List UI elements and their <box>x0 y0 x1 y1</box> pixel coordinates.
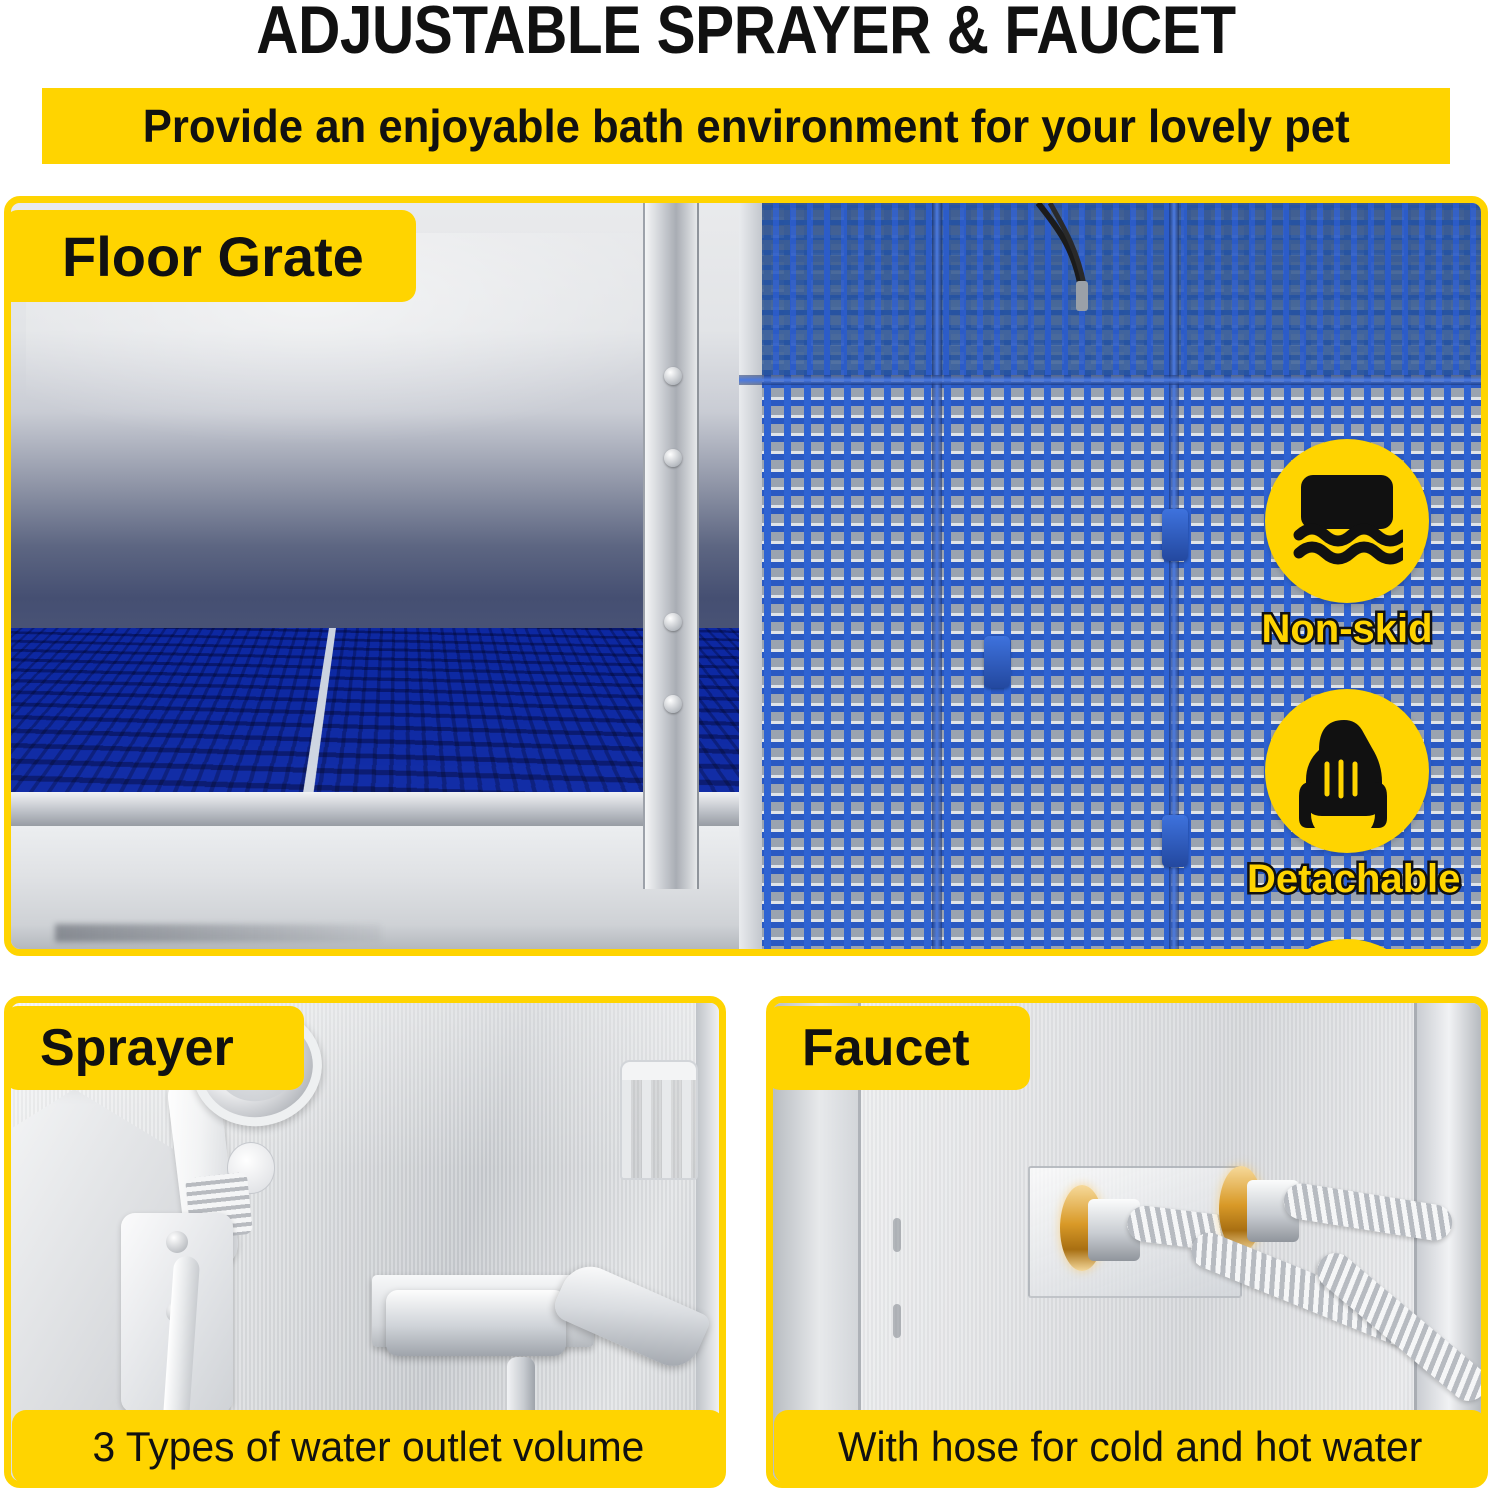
floor-grate-photo: Non-skid Detachable <box>11 203 1481 949</box>
wall-rack <box>620 1060 698 1180</box>
faucet-caption-text: With hose for cold and hot water <box>838 1423 1422 1471</box>
feature-non-skid: Non-skid <box>1247 439 1447 652</box>
floor-grate-badge-label: Floor Grate <box>62 224 364 289</box>
grate-left-edge <box>739 203 763 949</box>
wall-slot-mark <box>893 1218 901 1252</box>
grate-seam-horizontal <box>739 375 1481 385</box>
no-soak-icon <box>1265 939 1429 949</box>
non-skid-glyph <box>1291 469 1403 573</box>
floor-grate-panel: Non-skid Detachable <box>4 196 1488 956</box>
faucet-badge: Faucet <box>766 1006 1030 1090</box>
hand-grip-icon <box>1265 689 1429 853</box>
tub-front-panel <box>11 826 750 949</box>
stainless-tub-image <box>11 203 750 949</box>
feature-no-soak: No Soak <box>1247 939 1447 949</box>
grate-connector-clip <box>984 636 1010 688</box>
hand-grip-glyph <box>1289 712 1405 830</box>
floor-grate-badge: Floor Grate <box>4 210 416 302</box>
grate-back-row <box>739 203 1481 375</box>
non-skid-surface-icon <box>1265 439 1429 603</box>
sprayer-caption: 3 Types of water outlet volume <box>12 1410 724 1484</box>
sprayer-badge: Sprayer <box>4 1006 304 1090</box>
screw-icon <box>166 1231 188 1253</box>
mixer-valve-body <box>386 1290 566 1356</box>
tub-door-edge <box>643 203 699 889</box>
sprayer-badge-label: Sprayer <box>40 1018 234 1078</box>
sprayer-caption-text: 3 Types of water outlet volume <box>92 1423 644 1471</box>
feature-detachable: Detachable <box>1247 689 1447 902</box>
wall-slot-mark <box>893 1304 901 1338</box>
grate-seam-vertical <box>932 203 942 949</box>
grate-connector-clip <box>1162 815 1188 867</box>
page-title: ADJUSTABLE SPRAYER & FAUCET <box>104 0 1387 64</box>
grate-connector-clip <box>1162 509 1188 561</box>
tub-rim <box>11 792 750 829</box>
faucet-caption: With hose for cold and hot water <box>774 1410 1486 1484</box>
feature-label: Non-skid <box>1247 607 1447 652</box>
subtitle-banner: Provide an enjoyable bath environment fo… <box>42 88 1450 164</box>
header: ADJUSTABLE SPRAYER & FAUCET Provide an e… <box>0 0 1492 186</box>
feature-label: Detachable <box>1247 857 1447 902</box>
subtitle-text: Provide an enjoyable bath environment fo… <box>143 99 1350 153</box>
faucet-badge-label: Faucet <box>802 1018 970 1078</box>
